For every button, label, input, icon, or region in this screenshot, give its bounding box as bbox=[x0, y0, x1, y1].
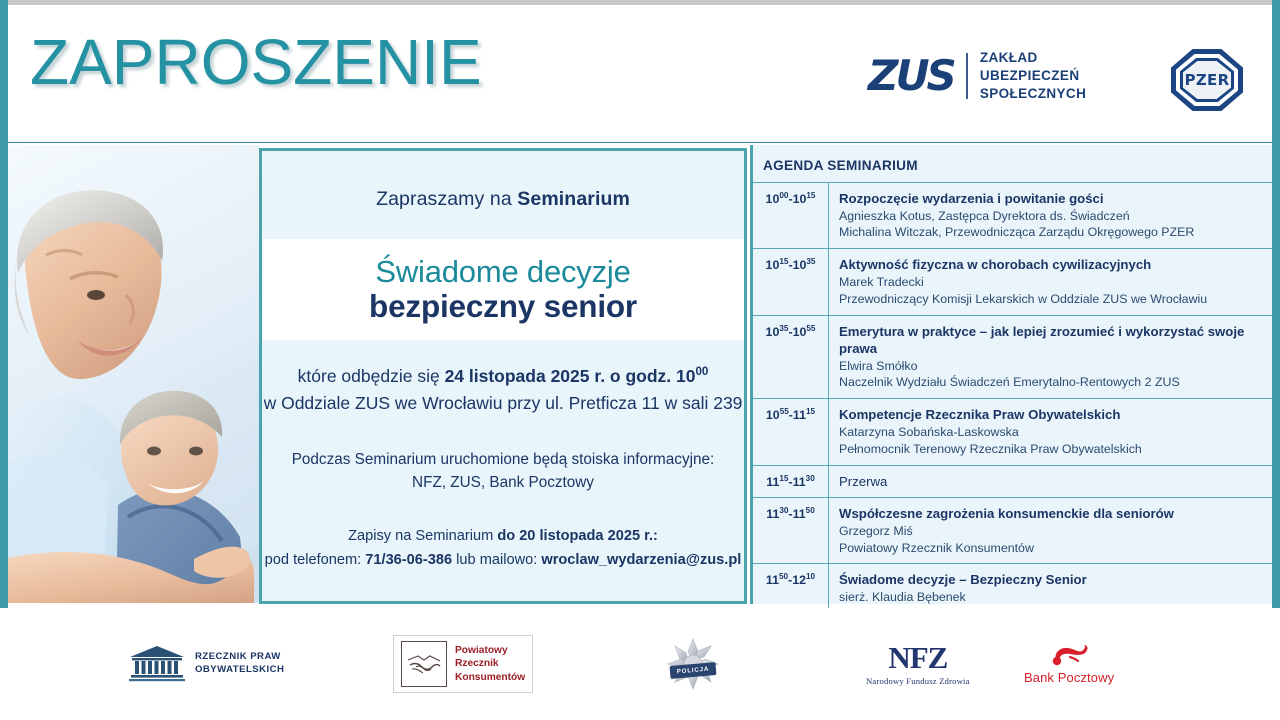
bank-pocztowy-label: Bank Pocztowy bbox=[1024, 670, 1114, 685]
agenda-row-speaker: Powiatowy Rzecznik Konsumentów bbox=[839, 540, 1266, 557]
agenda-row-speaker: Agnieszka Kotus, Zastępca Dyrektora ds. … bbox=[839, 208, 1266, 225]
info-stands: Podczas Seminarium uruchomione będą stoi… bbox=[262, 449, 744, 495]
prk-logo-box: Powiatowy Rzecznik Konsumentów bbox=[393, 635, 533, 693]
agenda-panel: AGENDA SEMINARIUM 1000-1015Rozpoczęcie w… bbox=[750, 145, 1272, 604]
agenda-row-title: Świadome decyzje – Bezpieczny Senior bbox=[839, 571, 1266, 589]
agenda-row: 1115-1130Przerwa bbox=[753, 465, 1272, 498]
event-when-where: które odbędzie się 24 listopada 2025 r. … bbox=[262, 363, 744, 417]
agenda-row-title: Współczesne zagrożenia konsumenckie dla … bbox=[839, 505, 1266, 523]
event-when-prefix: które odbędzie się bbox=[298, 366, 445, 386]
signup-prefix: Zapisy na Seminarium bbox=[348, 528, 497, 544]
agenda-row: 1035-1055Emerytura w praktyce – jak lepi… bbox=[753, 315, 1272, 399]
invitation-intro: Zapraszamy na Seminarium bbox=[262, 188, 744, 211]
prk-logo-line1: Powiatowy bbox=[455, 644, 525, 658]
info-stands-line-1: Podczas Seminarium uruchomione będą stoi… bbox=[262, 449, 744, 472]
invitation-poster: ZAPROSZENIE ZUS ZAKŁAD UBEZPIECZEŃ SPOŁE… bbox=[0, 0, 1280, 720]
agenda-row-body: Przerwa bbox=[829, 466, 1272, 498]
partner-logos-footer: RZECZNIK PRAW OBYWATELSKICH Powiatowy Rz… bbox=[0, 608, 1280, 720]
agenda-row-title: Emerytura w praktyce – jak lepiej zrozum… bbox=[839, 323, 1266, 358]
pzer-logo: PZER bbox=[1171, 49, 1243, 111]
rpo-logo-line2: OBYWATELSKICH bbox=[195, 664, 284, 677]
event-datetime-line: które odbędzie się 24 listopada 2025 r. … bbox=[262, 363, 744, 390]
policja-label: POLICJA bbox=[677, 666, 710, 676]
agenda-row-speaker: Katarzyna Sobańska-Laskowska bbox=[839, 424, 1266, 441]
agenda-row-time: 1000-1015 bbox=[753, 183, 829, 248]
police-star-badge-icon: POLICJA bbox=[667, 638, 719, 690]
signup-contact-line: pod telefonem: 71/36-06-386 lub mailowo:… bbox=[262, 549, 744, 573]
left-frame-strip bbox=[0, 0, 8, 608]
prk-logo-line2: Rzecznik bbox=[455, 657, 525, 671]
agenda-row-time: 1130-1150 bbox=[753, 498, 829, 563]
contact-prefix: pod telefonem: bbox=[265, 552, 366, 568]
zus-wordmark: ZUS bbox=[868, 55, 954, 97]
rpo-logo-text: RZECZNIK PRAW OBYWATELSKICH bbox=[195, 651, 284, 677]
invitation-intro-plain: Zapraszamy na bbox=[376, 188, 517, 210]
agenda-row: 1055-1115Kompetencje Rzecznika Praw Obyw… bbox=[753, 398, 1272, 464]
logo-powiatowy-rzecznik-konsumentow: Powiatowy Rzecznik Konsumentów bbox=[393, 608, 533, 720]
agenda-row-body: Współczesne zagrożenia konsumenckie dla … bbox=[829, 498, 1272, 563]
agenda-row-title: Przerwa bbox=[839, 473, 1266, 491]
prk-logo-line3: Konsumentów bbox=[455, 671, 525, 685]
pzer-label: PZER bbox=[1185, 71, 1230, 89]
agenda-row: 1130-1150Współczesne zagrożenia konsumen… bbox=[753, 497, 1272, 563]
senior-couple-illustration bbox=[8, 145, 260, 603]
signup-info: Zapisy na Seminarium do 20 listopada 202… bbox=[262, 525, 744, 572]
event-location-line: w Oddziale ZUS we Wrocławiu przy ul. Pre… bbox=[262, 390, 744, 417]
zus-logo-text: ZAKŁAD UBEZPIECZEŃ SPOŁECZNYCH bbox=[980, 49, 1086, 102]
zus-logo-line2: UBEZPIECZEŃ bbox=[980, 68, 1080, 83]
agenda-row-speaker: Grzegorz Miś bbox=[839, 523, 1266, 540]
logo-rzecznik-praw-obywatelskich: RZECZNIK PRAW OBYWATELSKICH bbox=[128, 608, 284, 720]
agenda-row-body: Emerytura w praktyce – jak lepiej zrozum… bbox=[829, 316, 1272, 399]
agenda-row-speaker: sierż. Klaudia Bębenek bbox=[839, 589, 1266, 606]
zus-logo-line1: ZAKŁAD bbox=[980, 50, 1038, 65]
agenda-rows: 1000-1015Rozpoczęcie wydarzenia i powita… bbox=[753, 182, 1272, 662]
nfz-wordmark: NFZ bbox=[888, 642, 947, 673]
agenda-row-speaker: Przewodniczący Komisji Lekarskich w Oddz… bbox=[839, 291, 1266, 308]
agenda-row-time: 1115-1130 bbox=[753, 466, 829, 498]
right-frame-strip bbox=[1272, 0, 1280, 608]
poster-header: ZAPROSZENIE ZUS ZAKŁAD UBEZPIECZEŃ SPOŁE… bbox=[8, 5, 1272, 143]
agenda-row-body: Kompetencje Rzecznika Praw Obywatelskich… bbox=[829, 399, 1272, 464]
nfz-subtitle: Narodowy Fundusz Zdrowia bbox=[866, 676, 970, 686]
agenda-row-time: 1015-1035 bbox=[753, 249, 829, 314]
signup-deadline: do 20 listopada 2025 r.: bbox=[497, 528, 658, 544]
rpo-logo-line1: RZECZNIK PRAW bbox=[195, 651, 284, 664]
event-when-bold: 24 listopada 2025 r. o godz. 10 bbox=[445, 366, 696, 386]
prk-logo-text: Powiatowy Rzecznik Konsumentów bbox=[455, 644, 525, 685]
agenda-row-speaker: Naczelnik Wydziału Świadczeń Emerytalno-… bbox=[839, 374, 1266, 391]
handshake-glyph bbox=[406, 652, 442, 676]
signup-deadline-line: Zapisy na Seminarium do 20 listopada 202… bbox=[262, 525, 744, 549]
agenda-row-time: 1055-1115 bbox=[753, 399, 829, 464]
event-when-minutes: 00 bbox=[696, 366, 709, 378]
zus-logo-divider bbox=[966, 53, 968, 99]
handshake-icon bbox=[401, 641, 447, 687]
agenda-row-title: Rozpoczęcie wydarzenia i powitanie gości bbox=[839, 190, 1266, 208]
agenda-row-body: Aktywność fizyczna w chorobach cywilizac… bbox=[829, 249, 1272, 314]
agenda-row-speaker: Michalina Witczak, Przewodnicząca Zarząd… bbox=[839, 224, 1266, 241]
page-title: ZAPROSZENIE bbox=[30, 25, 482, 99]
invitation-panel: Zapraszamy na Seminarium Świadome decyzj… bbox=[259, 148, 747, 604]
agenda-row-body: Rozpoczęcie wydarzenia i powitanie gości… bbox=[829, 183, 1272, 248]
zus-logo: ZUS ZAKŁAD UBEZPIECZEŃ SPOŁECZNYCH bbox=[868, 49, 1086, 102]
slogan-line-2: bezpieczny senior bbox=[369, 289, 637, 323]
logo-bank-pocztowy: Bank Pocztowy bbox=[1024, 608, 1114, 720]
agenda-row-time: 1035-1055 bbox=[753, 316, 829, 399]
contact-phone[interactable]: 71/36-06-386 bbox=[365, 552, 452, 568]
logo-nfz: NFZ Narodowy Fundusz Zdrowia bbox=[866, 608, 970, 720]
senior-couple-photo bbox=[8, 145, 260, 603]
classical-building-icon bbox=[128, 644, 186, 684]
invitation-intro-bold: Seminarium bbox=[517, 188, 630, 210]
info-stands-line-2: NFZ, ZUS, Bank Pocztowy bbox=[262, 472, 744, 495]
zus-logo-line3: SPOŁECZNYCH bbox=[980, 86, 1086, 101]
agenda-title: AGENDA SEMINARIUM bbox=[753, 145, 1272, 182]
agenda-row: 1000-1015Rozpoczęcie wydarzenia i powita… bbox=[753, 182, 1272, 248]
agenda-row-speaker: Pełnomocnik Terenowy Rzecznika Praw Obyw… bbox=[839, 441, 1266, 458]
agenda-row: 1015-1035Aktywność fizyczna w chorobach … bbox=[753, 248, 1272, 314]
slogan-line-1: Świadome decyzje bbox=[375, 256, 630, 289]
contact-email[interactable]: wroclaw_wydarzenia@zus.pl bbox=[541, 552, 741, 568]
agenda-row-speaker: Elwira Smółko bbox=[839, 358, 1266, 375]
logo-policja: POLICJA bbox=[667, 608, 719, 720]
agenda-row-title: Aktywność fizyczna w chorobach cywilizac… bbox=[839, 256, 1266, 274]
contact-middle: lub mailowo: bbox=[452, 552, 541, 568]
agenda-row-title: Kompetencje Rzecznika Praw Obywatelskich bbox=[839, 406, 1266, 424]
agenda-row-speaker: Marek Tradecki bbox=[839, 274, 1266, 291]
slogan-band: Świadome decyzje bezpieczny senior bbox=[262, 239, 744, 340]
post-horn-icon bbox=[1048, 643, 1090, 667]
